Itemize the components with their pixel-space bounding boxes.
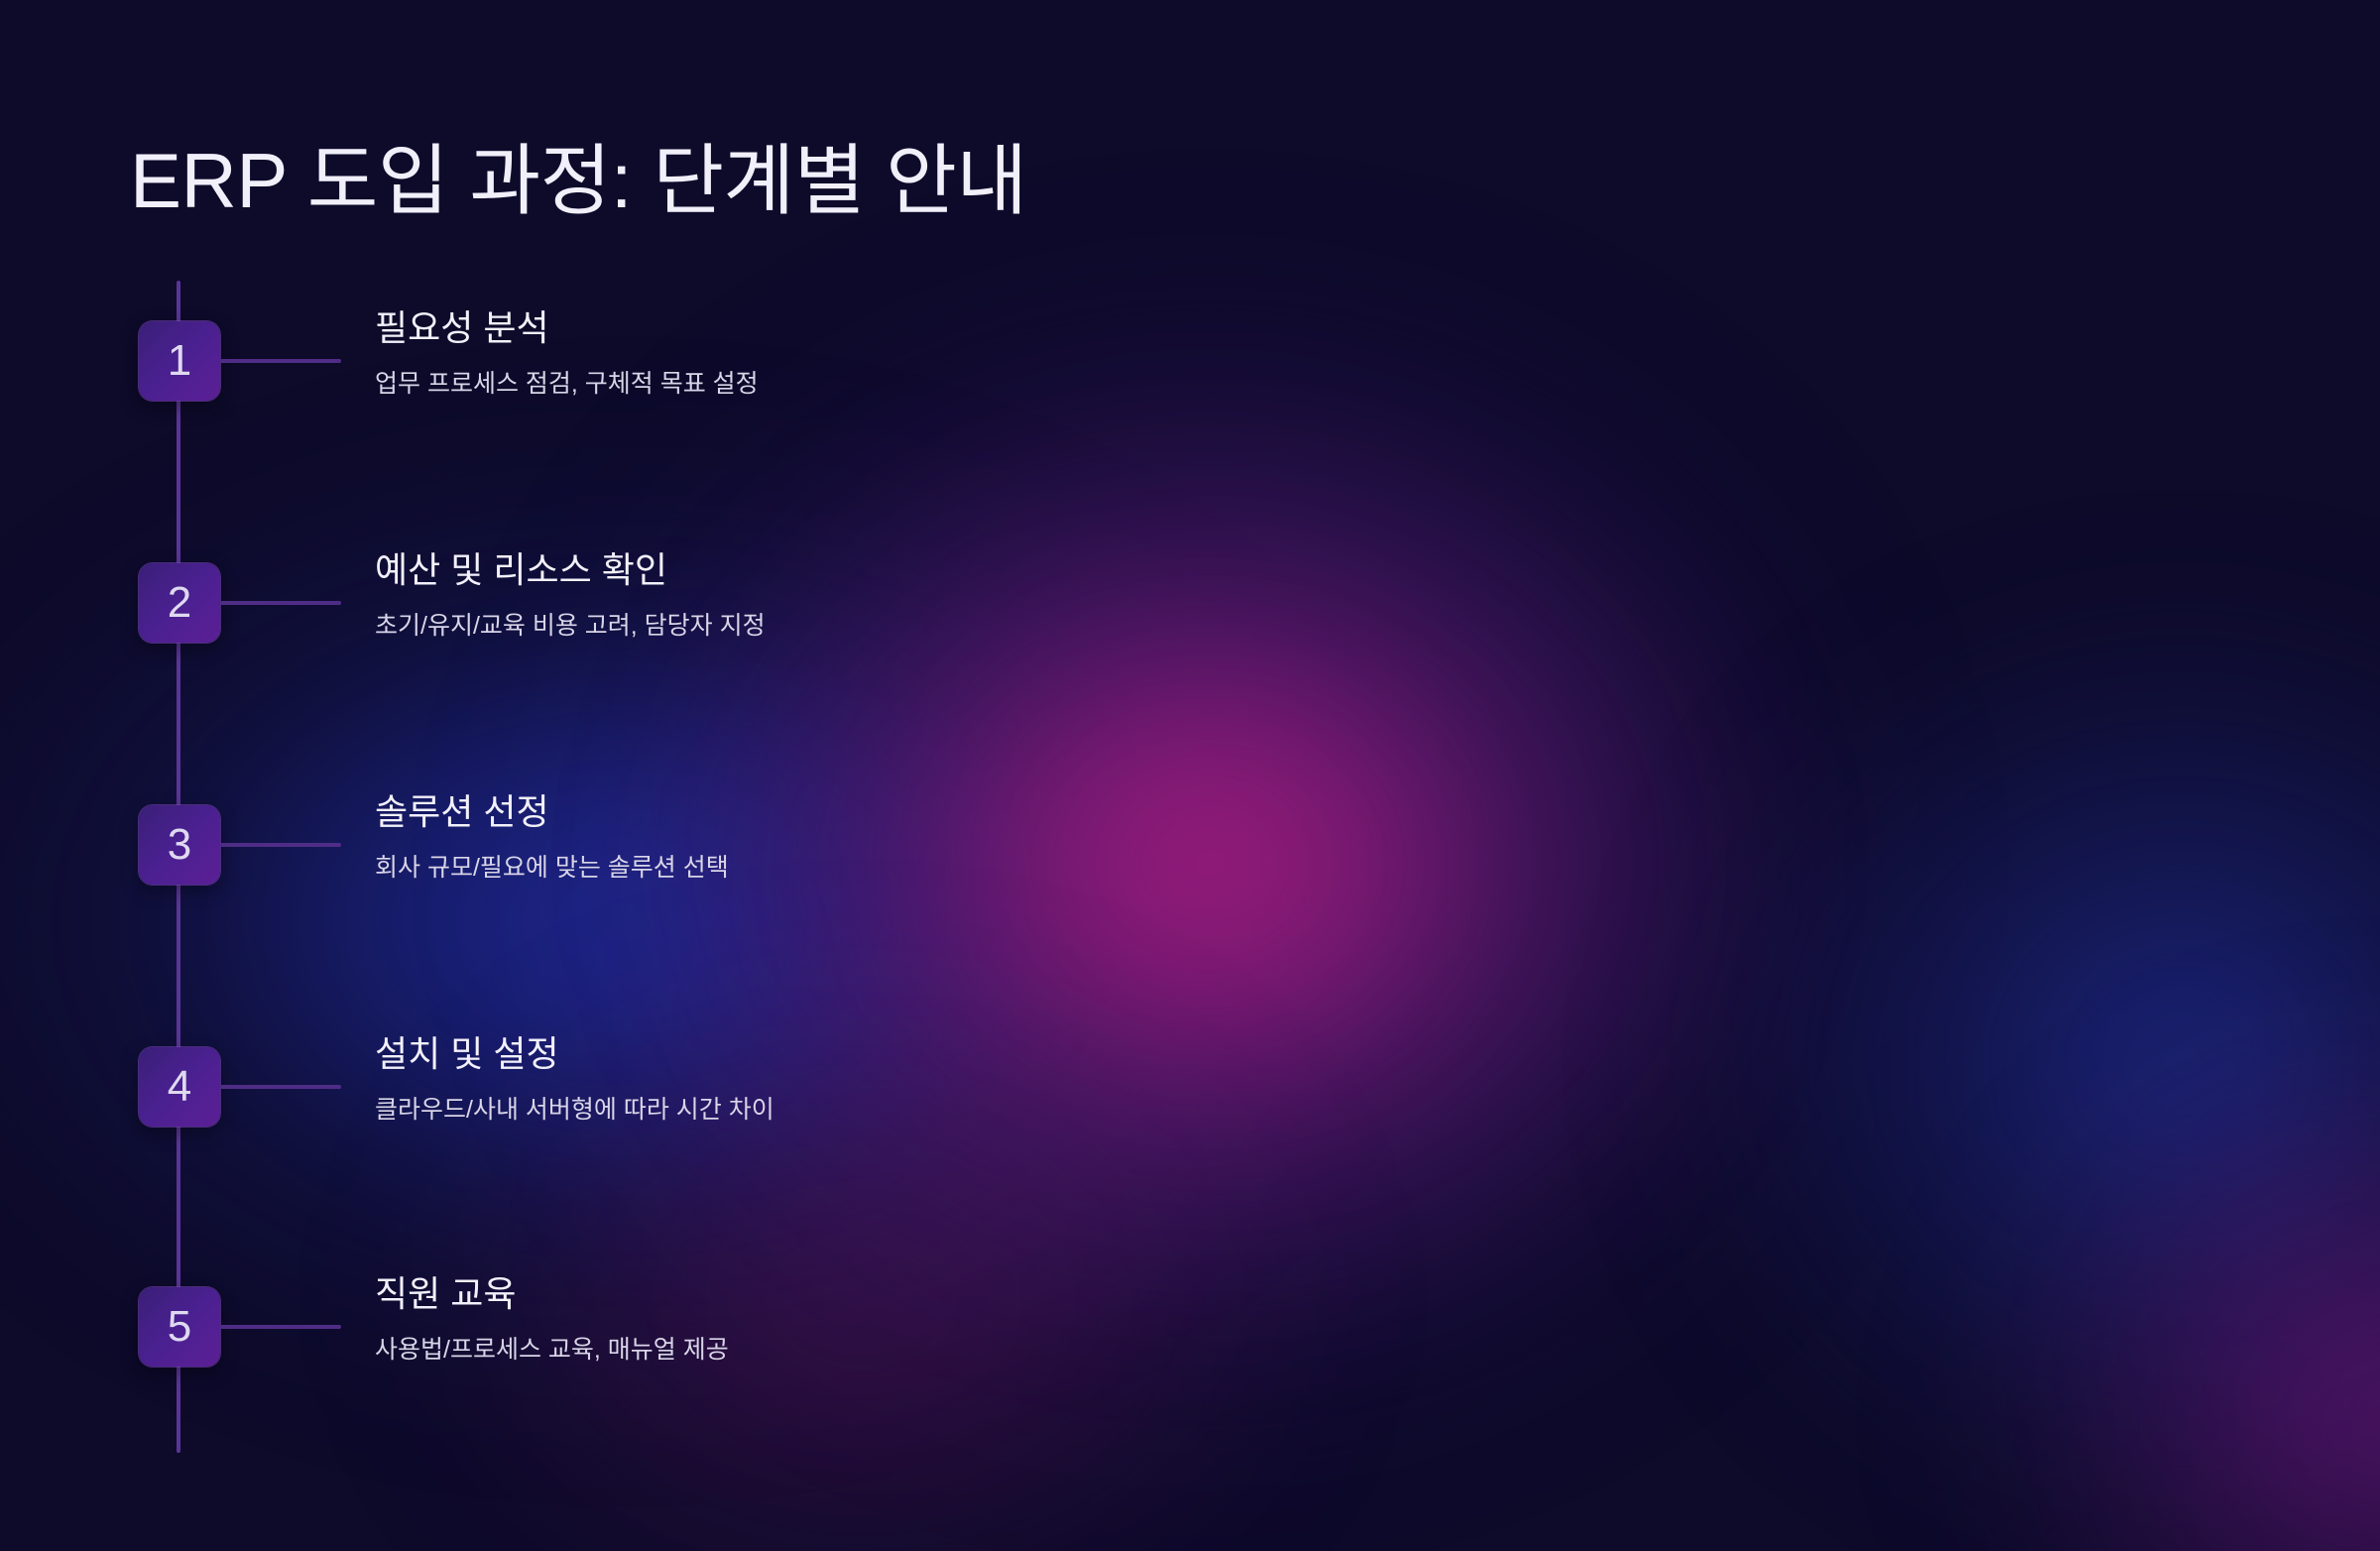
step-connector-4 — [220, 1085, 341, 1089]
step-description-2: 초기/유지/교육 비용 고려, 담당자 지정 — [375, 610, 1565, 644]
step-badge-5[interactable]: 5 — [139, 1287, 220, 1367]
step-description-3: 회사 규모/필요에 맞는 솔루션 선택 — [375, 852, 1565, 886]
step-text-4: 설치 및 설정 클라우드/사내 서버형에 따라 시간 차이 — [375, 1031, 1565, 1128]
step-connector-2 — [220, 601, 341, 605]
step-text-3: 솔루션 선정 회사 규모/필요에 맞는 솔루션 선택 — [375, 789, 1565, 886]
step-description-4: 클라우드/사내 서버형에 따라 시간 차이 — [375, 1094, 1565, 1128]
step-badge-4[interactable]: 4 — [139, 1047, 220, 1127]
step-badge-2[interactable]: 2 — [139, 563, 220, 643]
step-number-2: 2 — [168, 581, 191, 625]
step-title-1: 필요성 분석 — [375, 305, 1565, 350]
step-title-2: 예산 및 리소스 확인 — [375, 547, 1565, 592]
step-badge-3[interactable]: 3 — [139, 805, 220, 885]
step-title-4: 설치 및 설정 — [375, 1031, 1565, 1076]
step-badge-1[interactable]: 1 — [139, 321, 220, 401]
slide-canvas: ERP 도입 과정: 단계별 안내 1 필요성 분석 업무 프로세스 점검, 구… — [0, 0, 2380, 1551]
step-number-4: 4 — [168, 1065, 191, 1109]
step-number-3: 3 — [168, 823, 191, 867]
step-text-2: 예산 및 리소스 확인 초기/유지/교육 비용 고려, 담당자 지정 — [375, 547, 1565, 644]
step-title-5: 직원 교육 — [375, 1271, 1565, 1316]
step-connector-5 — [220, 1325, 341, 1329]
step-title-3: 솔루션 선정 — [375, 789, 1565, 834]
step-connector-1 — [220, 359, 341, 363]
step-description-5: 사용법/프로세스 교육, 매뉴얼 제공 — [375, 1334, 1565, 1368]
step-text-1: 필요성 분석 업무 프로세스 점검, 구체적 목표 설정 — [375, 305, 1565, 402]
step-text-5: 직원 교육 사용법/프로세스 교육, 매뉴얼 제공 — [375, 1271, 1565, 1368]
step-connector-3 — [220, 843, 341, 847]
page-title: ERP 도입 과정: 단계별 안내 — [130, 139, 1027, 224]
step-number-5: 5 — [168, 1305, 191, 1349]
step-description-1: 업무 프로세스 점검, 구체적 목표 설정 — [375, 368, 1565, 402]
step-number-1: 1 — [168, 339, 191, 383]
